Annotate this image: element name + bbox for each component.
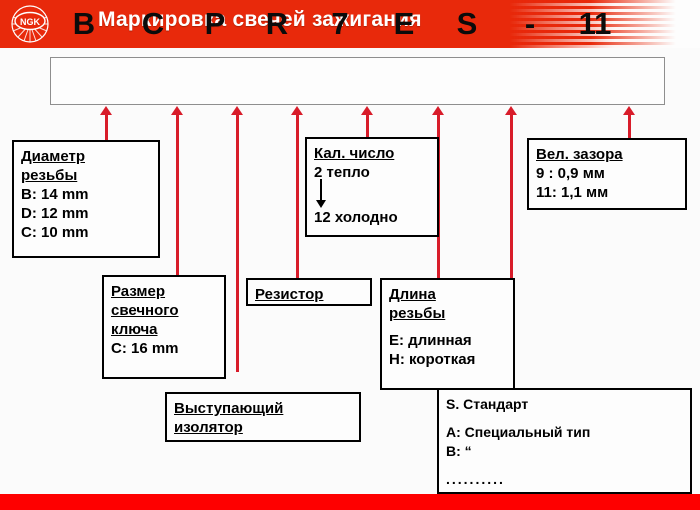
ngk-logo-icon: NGK: [8, 4, 52, 44]
projected-insulator-heading-1: Выступающий: [174, 399, 352, 418]
code-char-6: S: [447, 6, 487, 42]
plug-code-box: [50, 57, 665, 105]
heat-range-heading: Кал. число: [314, 144, 430, 163]
connector-heat-arrowhead-icon: [361, 106, 373, 115]
construction-line-3: B: “: [446, 442, 683, 461]
code-char-5: E: [384, 6, 424, 42]
wrench-size-heading-1: Размер: [111, 282, 217, 301]
box-projected-insulator: Выступающий изолятор: [165, 392, 361, 442]
connector-wrench-arrowhead-icon: [171, 106, 183, 115]
wrench-size-heading-2: свечного: [111, 301, 217, 320]
connector-resistor-arrowhead-icon: [291, 106, 303, 115]
connector-resistor: [296, 113, 299, 278]
thread-length-line-1: E: длинная: [389, 331, 506, 350]
spark-gap-line-2: 11: 1,1 мм: [536, 183, 678, 202]
projected-insulator-heading-2: изолятор: [174, 418, 352, 437]
heat-range-hot: 2 тепло: [314, 163, 430, 182]
thread-diameter-line-2: D: 12 mm: [21, 204, 151, 223]
thread-length-heading-2: резьбы: [389, 304, 506, 323]
connector-diameter: [105, 113, 108, 140]
code-char-4: 7: [320, 6, 360, 42]
spacer: [389, 323, 506, 331]
thread-length-heading-1: Длина: [389, 285, 506, 304]
box-resistor: Резистор: [246, 278, 372, 306]
box-wrench-size: Размер свечного ключа C: 16 mm: [102, 275, 226, 379]
code-char-7: -: [510, 6, 550, 42]
code-char-1: C: [133, 6, 173, 42]
footer-bar: [0, 494, 700, 510]
code-char-2: P: [195, 6, 235, 42]
box-thread-length: Длина резьбы E: длинная H: короткая: [380, 278, 515, 390]
box-construction-type: S. Стандарт A: Специальный тип B: “ ....…: [437, 388, 692, 494]
diagram-canvas: NGK Маркировка свечей зажигания BCPR7ES-…: [0, 0, 700, 510]
down-arrow-icon: [320, 179, 322, 201]
box-heat-range: Кал. число 2 тепло 12 холодно: [305, 137, 439, 237]
code-char-8: 11: [575, 6, 615, 42]
heat-range-cold: 12 холодно: [314, 208, 430, 227]
connector-projection: [236, 113, 239, 372]
code-char-0: B: [64, 6, 104, 42]
thread-diameter-line-1: B: 14 mm: [21, 185, 151, 204]
wrench-size-heading-3: ключа: [111, 320, 217, 339]
construction-ellipsis: ..........: [446, 470, 683, 489]
thread-diameter-heading-2: резьбы: [21, 166, 151, 185]
connector-standard-arrowhead-icon: [505, 106, 517, 115]
connector-heat: [366, 113, 369, 137]
connector-diameter-arrowhead-icon: [100, 106, 112, 115]
spark-gap-heading: Вел. зазора: [536, 145, 678, 164]
connector-projection-arrowhead-icon: [231, 106, 243, 115]
wrench-size-line-1: C: 16 mm: [111, 339, 217, 358]
connector-gap: [628, 113, 631, 138]
connector-wrench: [176, 113, 179, 275]
box-spark-gap: Вел. зазора 9 : 0,9 мм 11: 1,1 мм: [527, 138, 687, 210]
spark-gap-line-1: 9 : 0,9 мм: [536, 164, 678, 183]
resistor-heading: Резистор: [255, 285, 363, 304]
construction-line-2: A: Специальный тип: [446, 423, 683, 442]
connector-length-arrowhead-icon: [432, 106, 444, 115]
svg-text:NGK: NGK: [20, 17, 41, 27]
construction-line-1: S. Стандарт: [446, 395, 683, 414]
code-char-3: R: [257, 6, 297, 42]
box-thread-diameter: Диаметр резьбы B: 14 mm D: 12 mm C: 10 m…: [12, 140, 160, 258]
thread-length-line-2: H: короткая: [389, 350, 506, 369]
thread-diameter-heading-1: Диаметр: [21, 147, 151, 166]
connector-gap-arrowhead-icon: [623, 106, 635, 115]
thread-diameter-line-3: C: 10 mm: [21, 223, 151, 242]
